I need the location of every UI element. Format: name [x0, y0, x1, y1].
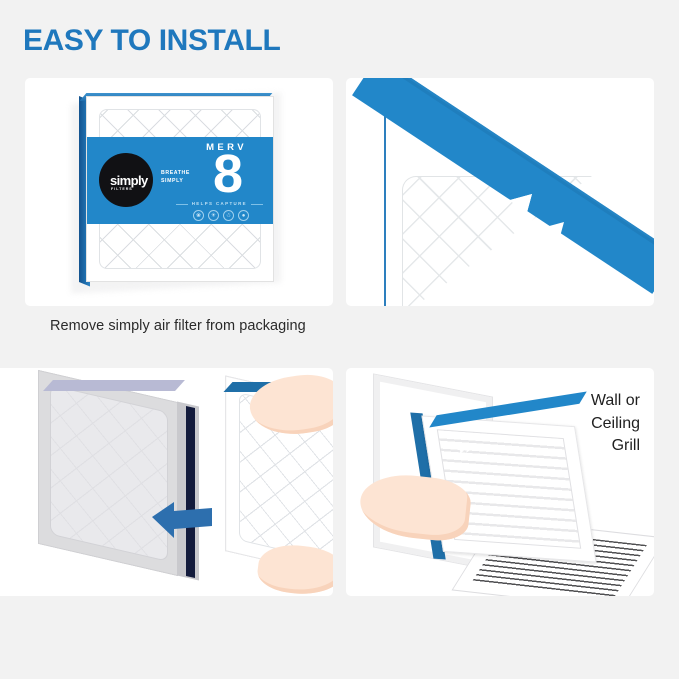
- insert-direction-arrow: [152, 498, 214, 540]
- return-grill-illustration: ➤➤ Wall or Ceiling Grill: [346, 368, 654, 596]
- airflow-arrow-2: [524, 216, 570, 262]
- lint-icon: ☃: [223, 210, 234, 221]
- brand-name: simply: [110, 173, 164, 188]
- install-instructions-page: EASY TO INSTALL simply FILTERS: [0, 0, 679, 679]
- filter-package-illustration: simply FILTERS BREATHE SIMPLY MERV 8 HEL…: [25, 78, 333, 306]
- step-3: ➤➤ For central units slide the filter in…: [0, 368, 333, 596]
- step-1-caption: Remove simply air filter from packaging: [50, 316, 360, 336]
- filter-slot: [186, 406, 195, 578]
- step-2: Locate the arrow & point it in the direc…: [346, 78, 654, 306]
- central-unit-illustration: ➤➤: [0, 368, 333, 596]
- wall-ceiling-grill-label: Wall or Ceiling Grill: [591, 390, 640, 458]
- air-handler-unit: [38, 370, 178, 576]
- tagline: BREATHE SIMPLY: [161, 170, 190, 186]
- dust-icon: ☀: [208, 210, 219, 221]
- tagline-line-2: SIMPLY: [161, 178, 190, 186]
- step-2-image-panel: [346, 78, 654, 306]
- package-label-band: simply FILTERS BREATHE SIMPLY MERV 8 HEL…: [87, 137, 273, 224]
- step-4-image-panel: ➤➤ Wall or Ceiling Grill: [346, 368, 654, 596]
- unit-top-edge: [43, 380, 185, 391]
- grill-label-line-2: Ceiling: [591, 413, 640, 436]
- filter-edge-closeup-illustration: [346, 78, 654, 306]
- helps-capture-label: HELPS CAPTURE: [192, 201, 247, 206]
- merv-rating: 8: [213, 147, 243, 201]
- step-4: ➤➤ Wall or Ceiling Grill For return gril…: [346, 368, 654, 596]
- grill-label-line-1: Wall or: [591, 390, 640, 413]
- step-1-image-panel: simply FILTERS BREATHE SIMPLY MERV 8 HEL…: [25, 78, 333, 306]
- step-1: simply FILTERS BREATHE SIMPLY MERV 8 HEL…: [25, 78, 333, 306]
- brand-logo-circle: simply FILTERS: [99, 153, 153, 207]
- blue-frame-edge: [352, 78, 654, 294]
- pollen-icon: ❀: [193, 210, 204, 221]
- brand-subtitle: FILTERS: [111, 187, 133, 191]
- filter-frame-line: [384, 90, 386, 306]
- tagline-line-1: BREATHE: [161, 170, 190, 178]
- capture-icon-row: ❀ ☀ ☃ ●: [193, 210, 249, 221]
- package-front-face: simply FILTERS BREATHE SIMPLY MERV 8 HEL…: [87, 97, 273, 281]
- grill-label-line-3: Grill: [591, 435, 640, 458]
- page-title: EASY TO INSTALL: [23, 26, 280, 56]
- step-3-image-panel: ➤➤: [0, 368, 333, 596]
- steps-grid: simply FILTERS BREATHE SIMPLY MERV 8 HEL…: [0, 78, 679, 678]
- mold-icon: ●: [238, 210, 249, 221]
- unit-face-panel: [50, 385, 168, 562]
